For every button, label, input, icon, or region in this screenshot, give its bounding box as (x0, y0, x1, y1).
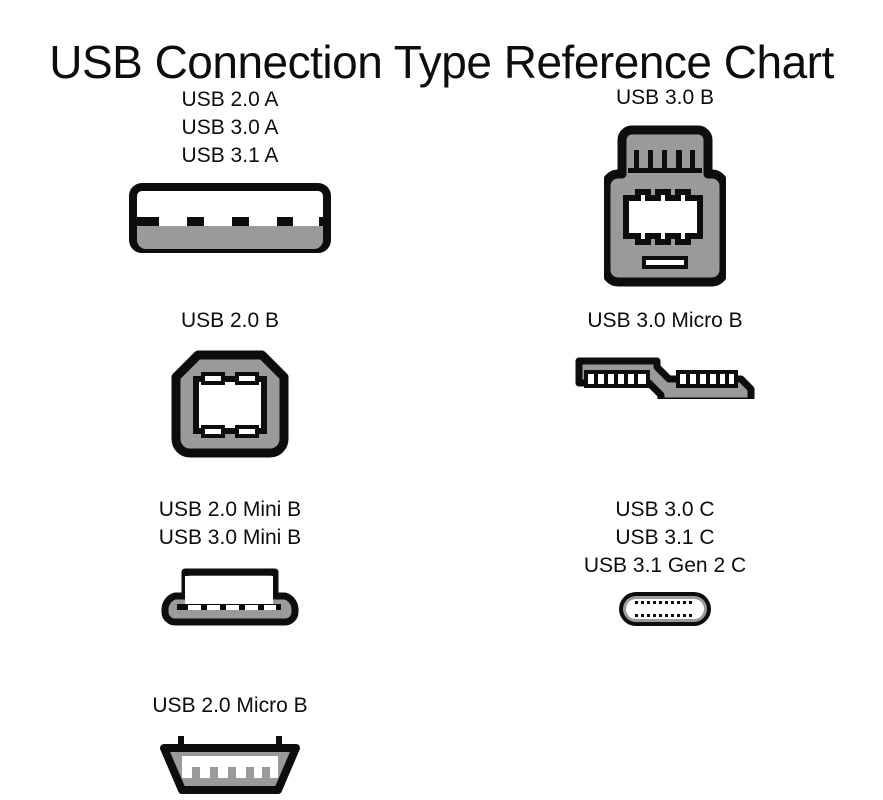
connector-entry-usb2-micro-b: USB 2.0 Micro B (75, 692, 385, 796)
connector-illustration-mini-b (75, 566, 385, 628)
connector-illustration-usb3-micro-b (520, 353, 810, 399)
connector-label: USB 3.0 A (75, 114, 385, 142)
connector-label: USB 2.0 Micro B (75, 692, 385, 720)
connector-label-group-mini-b: USB 2.0 Mini B USB 3.0 Mini B (75, 496, 385, 552)
connector-label: USB 2.0 A (75, 86, 385, 114)
usb-mini-b-connector-icon (159, 566, 301, 628)
usb-type-c-connector-icon (617, 590, 713, 628)
connector-label-group-usb-c: USB 3.0 C USB 3.1 C USB 3.1 Gen 2 C (520, 496, 810, 580)
connector-label: USB 3.1 C (520, 524, 810, 552)
connector-label: USB 2.0 Mini B (75, 496, 385, 524)
connector-label-group-usb3-b: USB 3.0 B (520, 84, 810, 112)
connector-label: USB 3.0 Micro B (520, 307, 810, 335)
connector-illustration-usb-c (520, 590, 810, 628)
connector-label: USB 3.0 C (520, 496, 810, 524)
usb-type-a-connector-icon (129, 183, 331, 253)
connector-label: USB 3.0 Mini B (75, 524, 385, 552)
connector-entry-usb-c: USB 3.0 C USB 3.1 C USB 3.1 Gen 2 C (520, 496, 810, 628)
page-title: USB Connection Type Reference Chart (0, 35, 883, 89)
usb-2-0-type-b-connector-icon (170, 349, 290, 461)
connector-entry-usb3-micro-b: USB 3.0 Micro B (520, 307, 810, 399)
connector-illustration-usb-a (75, 183, 385, 253)
connector-label-group-usb2-b: USB 2.0 B (75, 307, 385, 335)
connector-illustration-usb2-micro-b (75, 734, 385, 796)
connector-illustration-usb2-b (75, 349, 385, 461)
connector-label: USB 3.1 A (75, 142, 385, 170)
connector-label: USB 2.0 B (75, 307, 385, 335)
usb-3-0-type-b-connector-icon (604, 120, 726, 288)
connector-label-group-usb-a: USB 2.0 A USB 3.0 A USB 3.1 A (75, 86, 385, 170)
usb-reference-chart-page: USB Connection Type Reference Chart USB … (0, 0, 883, 800)
usb-3-0-micro-b-connector-icon (574, 353, 756, 399)
connector-entry-usb2-b: USB 2.0 B (75, 307, 385, 461)
connector-label-group-usb2-micro-b: USB 2.0 Micro B (75, 692, 385, 720)
connector-label: USB 3.1 Gen 2 C (520, 552, 810, 580)
connector-illustration-usb3-b (520, 120, 810, 288)
connector-label-group-usb3-micro-b: USB 3.0 Micro B (520, 307, 810, 335)
connector-entry-usb-a: USB 2.0 A USB 3.0 A USB 3.1 A (75, 86, 385, 253)
connector-entry-mini-b: USB 2.0 Mini B USB 3.0 Mini B (75, 496, 385, 628)
usb-2-0-micro-b-connector-icon (156, 734, 304, 796)
connector-label: USB 3.0 B (520, 84, 810, 112)
connector-entry-usb3-b: USB 3.0 B (520, 84, 810, 288)
